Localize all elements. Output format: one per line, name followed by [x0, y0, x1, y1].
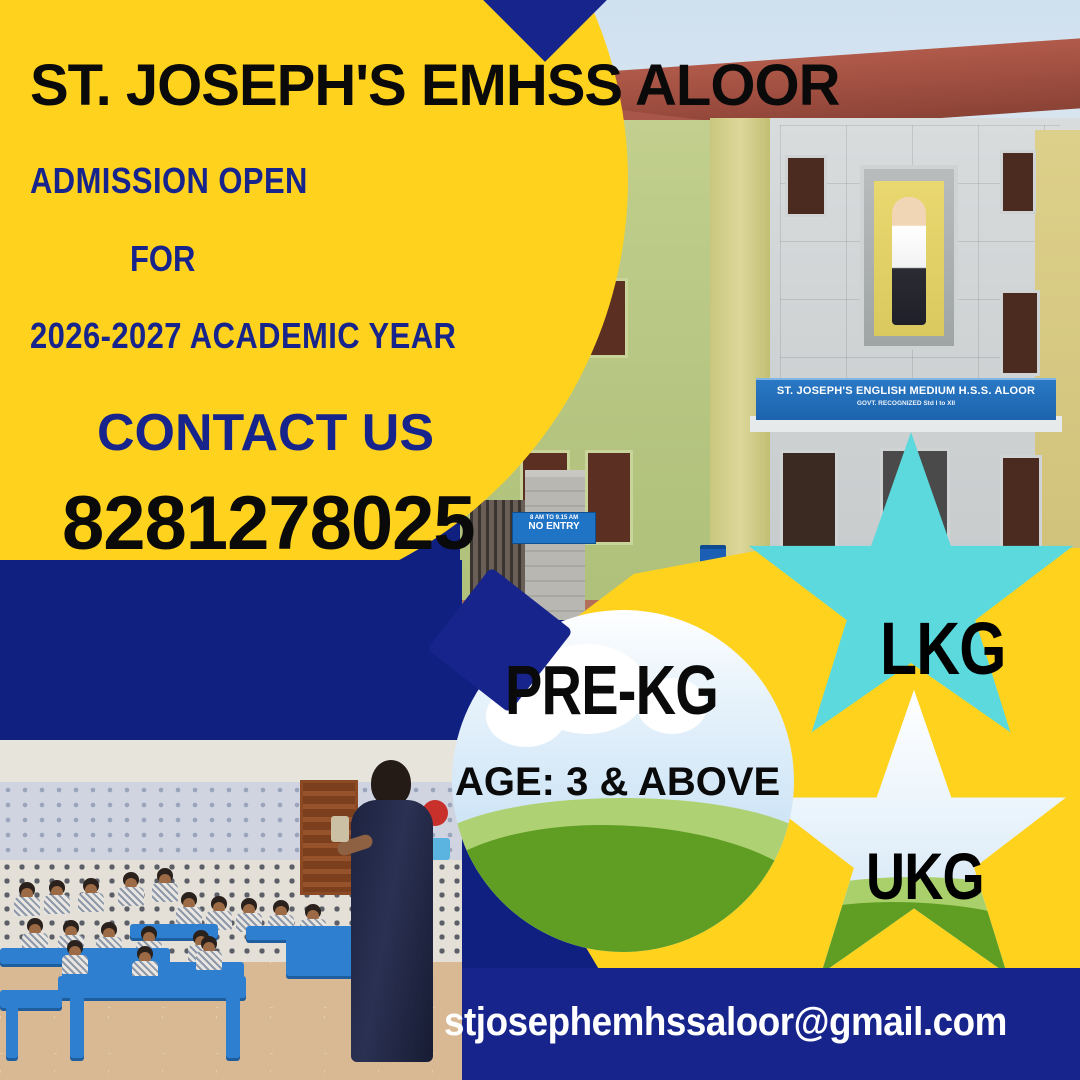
email-text[interactable]: stjosephemhssaloor@gmail.com	[444, 1000, 1007, 1045]
statue-shrine	[860, 165, 958, 350]
student	[132, 946, 158, 980]
student	[176, 892, 202, 926]
contact-us-label: CONTACT US	[97, 403, 434, 463]
student	[118, 872, 144, 906]
admission-open-label: ADMISSION OPEN	[30, 160, 308, 202]
student	[78, 878, 104, 912]
window	[780, 450, 838, 560]
desk-leg	[70, 996, 84, 1058]
window	[1000, 150, 1036, 214]
student	[14, 882, 40, 916]
ukg-label: UKG	[866, 838, 984, 914]
admission-poster: ST. JOSEPH'S ENGLISH MEDIUM H.S.S. ALOOR…	[0, 0, 1080, 1080]
lkg-label: LKG	[880, 606, 1006, 691]
student	[196, 936, 222, 970]
no-entry-sign: 8 AM TO 9.15 AM NO ENTRY	[512, 512, 596, 544]
classroom-photo	[0, 740, 462, 1080]
saint-statue	[892, 197, 926, 325]
page-title: ST. JOSEPH'S EMHSS ALOOR	[30, 52, 839, 119]
student	[62, 940, 88, 974]
student	[152, 868, 178, 902]
teaching-prop	[331, 816, 349, 842]
prekg-label: PRE-KG	[505, 650, 718, 730]
window	[785, 155, 827, 217]
school-signboard: ST. JOSEPH'S ENGLISH MEDIUM H.S.S. ALOOR…	[756, 378, 1056, 420]
for-label: FOR	[130, 238, 195, 280]
shrine-interior	[874, 181, 944, 336]
signboard-line1: ST. JOSEPH'S ENGLISH MEDIUM H.S.S. ALOOR	[756, 385, 1056, 397]
stone-pillar	[525, 470, 585, 620]
phone-number[interactable]: 8281278025	[62, 480, 475, 567]
signboard-line2: GOVT. RECOGNIZED Std I to XII	[756, 400, 1056, 407]
teacher	[345, 760, 437, 1060]
desk-leg	[6, 1006, 18, 1058]
prekg-age-label: AGE: 3 & ABOVE	[455, 760, 780, 805]
window	[1000, 455, 1042, 555]
student	[22, 918, 48, 952]
gate-sign-line2: NO ENTRY	[513, 521, 595, 533]
student	[44, 880, 70, 914]
window	[1000, 290, 1040, 376]
navy-left-panel	[0, 560, 462, 745]
academic-year-label: 2026-2027 ACADEMIC YEAR	[30, 315, 456, 357]
desk-leg	[226, 996, 240, 1058]
front-desk	[58, 976, 246, 998]
